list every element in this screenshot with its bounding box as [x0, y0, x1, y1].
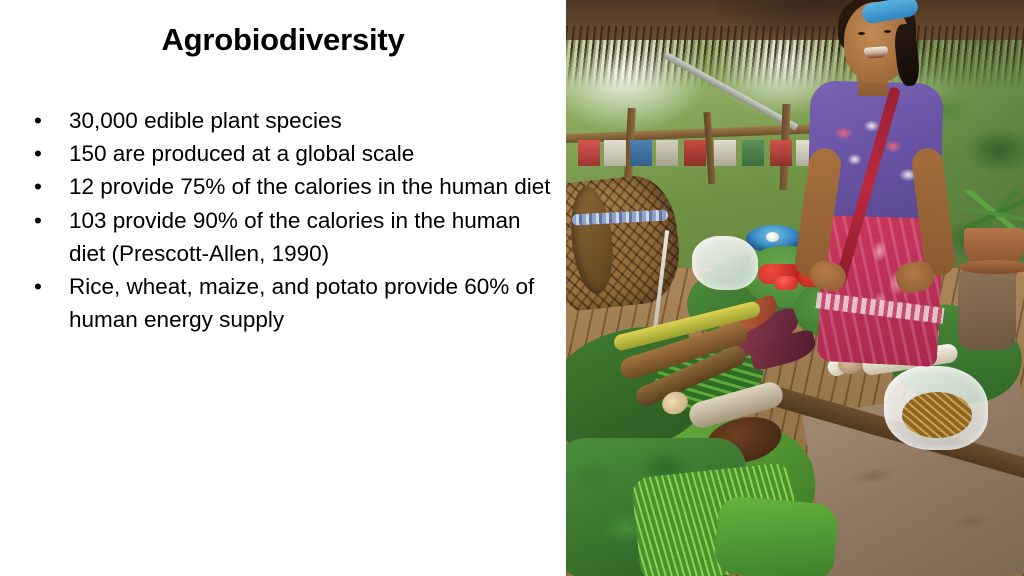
list-item-text: 30,000 edible plant species	[69, 108, 342, 133]
plastic-bag	[692, 236, 758, 290]
red-berry-cluster	[774, 276, 798, 290]
bullet-marker-icon: •	[34, 170, 42, 203]
cloth	[578, 140, 600, 166]
list-item: • Rice, wheat, maize, and potato provide…	[28, 270, 553, 336]
list-item: • 12 provide 75% of the calories in the …	[28, 170, 553, 203]
list-item-text: Rice, wheat, maize, and potato provide 6…	[69, 274, 534, 332]
cloth	[714, 140, 736, 166]
list-item-text: 12 provide 75% of the calories in the hu…	[69, 174, 551, 199]
terracotta-pot	[964, 228, 1024, 264]
slide: Agrobiodiversity • 30,000 edible plant s…	[0, 0, 1024, 576]
leafy-green-vegetables	[713, 495, 839, 576]
cloth	[684, 140, 706, 166]
list-item: • 103 provide 90% of the calories in the…	[28, 204, 553, 270]
page-title: Agrobiodiversity	[0, 22, 566, 58]
bullet-marker-icon: •	[34, 270, 42, 303]
woman-eye	[858, 32, 865, 35]
list-item: • 150 are produced at a global scale	[28, 137, 553, 170]
agrobiodiversity-photo	[566, 0, 1024, 576]
bullet-marker-icon: •	[34, 137, 42, 170]
cloth	[742, 140, 764, 166]
tree-stump	[958, 270, 1016, 350]
list-item: • 30,000 edible plant species	[28, 104, 553, 137]
text-panel: Agrobiodiversity • 30,000 edible plant s…	[0, 0, 566, 576]
cloth	[604, 140, 626, 166]
cloth	[770, 140, 792, 166]
pot-saucer	[958, 260, 1024, 274]
list-item-text: 150 are produced at a global scale	[69, 141, 414, 166]
cloth	[656, 140, 678, 166]
cloth	[630, 140, 652, 166]
bowl-contents	[766, 232, 779, 242]
dried-roots	[902, 392, 972, 438]
bullet-marker-icon: •	[34, 204, 42, 237]
list-item-text: 103 provide 90% of the calories in the h…	[69, 208, 521, 266]
bullet-marker-icon: •	[34, 104, 42, 137]
woman-eye	[884, 30, 891, 33]
bullet-list: • 30,000 edible plant species • 150 are …	[28, 104, 553, 336]
hanging-cloths	[574, 140, 824, 170]
